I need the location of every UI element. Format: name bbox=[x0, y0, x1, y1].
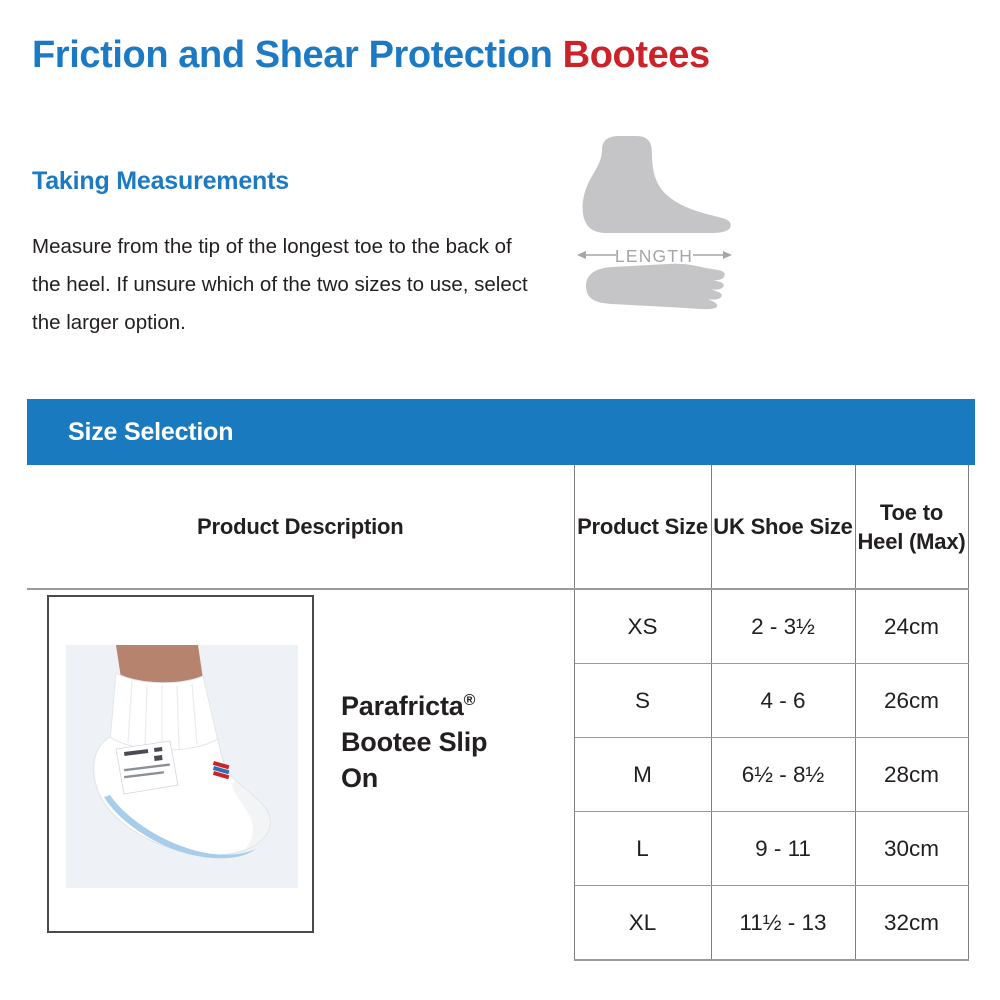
product-description-cell: Parafricta® Bootee Slip On bbox=[27, 589, 574, 960]
product-line-2: Bootee Slip bbox=[341, 727, 487, 757]
cell-uk-shoe-size: 6½ - 8½ bbox=[711, 738, 855, 812]
cell-uk-shoe-size: 11½ - 13 bbox=[711, 886, 855, 961]
section-heading: Taking Measurements bbox=[32, 167, 289, 196]
size-selection-banner: Size Selection bbox=[27, 399, 975, 465]
cell-toe-to-heel: 32cm bbox=[855, 886, 968, 961]
foot-top-view-icon bbox=[586, 264, 725, 309]
table-header-row: Product Description Product Size UK Shoe… bbox=[27, 465, 968, 589]
cell-toe-to-heel: 26cm bbox=[855, 664, 968, 738]
cell-product-size: XL bbox=[574, 886, 711, 961]
length-label: LENGTH bbox=[615, 246, 693, 266]
product-line-3: On bbox=[341, 763, 378, 793]
cell-product-size: L bbox=[574, 812, 711, 886]
cell-product-size: S bbox=[574, 664, 711, 738]
foot-side-view-icon bbox=[583, 136, 731, 233]
cell-product-size: M bbox=[574, 738, 711, 812]
cell-toe-to-heel: 30cm bbox=[855, 812, 968, 886]
cell-uk-shoe-size: 4 - 6 bbox=[711, 664, 855, 738]
column-header-product-description: Product Description bbox=[27, 465, 574, 589]
table-row: Parafricta® Bootee Slip On XS 2 - 3½ 24c… bbox=[27, 589, 968, 664]
page-title-accent: Bootees bbox=[563, 34, 710, 76]
cell-toe-to-heel: 28cm bbox=[855, 738, 968, 812]
size-selection-title: Size Selection bbox=[68, 418, 233, 447]
page-title: Friction and Shear Protection Bootees bbox=[32, 34, 710, 77]
registered-mark: ® bbox=[464, 692, 476, 709]
product-name: Parafricta® Bootee Slip On bbox=[341, 683, 487, 796]
size-selection-table: Product Description Product Size UK Shoe… bbox=[27, 465, 969, 961]
product-brand: Parafricta bbox=[341, 691, 464, 721]
length-arrow-right-head-icon bbox=[723, 251, 732, 259]
length-arrow-left-head-icon bbox=[577, 251, 586, 259]
product-photo-canvas bbox=[66, 645, 298, 888]
product-photo bbox=[47, 595, 314, 933]
care-label bbox=[116, 741, 178, 794]
cell-uk-shoe-size: 2 - 3½ bbox=[711, 589, 855, 664]
bootee-cuff-shape bbox=[110, 673, 218, 751]
foot-measurement-diagram: LENGTH bbox=[572, 128, 737, 318]
page-title-main: Friction and Shear Protection bbox=[32, 34, 552, 76]
cell-toe-to-heel: 24cm bbox=[855, 589, 968, 664]
cell-product-size: XS bbox=[574, 589, 711, 664]
column-header-toe-to-heel: Toe to Heel (Max) bbox=[855, 465, 968, 589]
cell-uk-shoe-size: 9 - 11 bbox=[711, 812, 855, 886]
column-header-product-size: Product Size bbox=[574, 465, 711, 589]
measurement-instructions: Measure from the tip of the longest toe … bbox=[32, 228, 532, 342]
column-header-uk-shoe-size: UK Shoe Size bbox=[711, 465, 855, 589]
